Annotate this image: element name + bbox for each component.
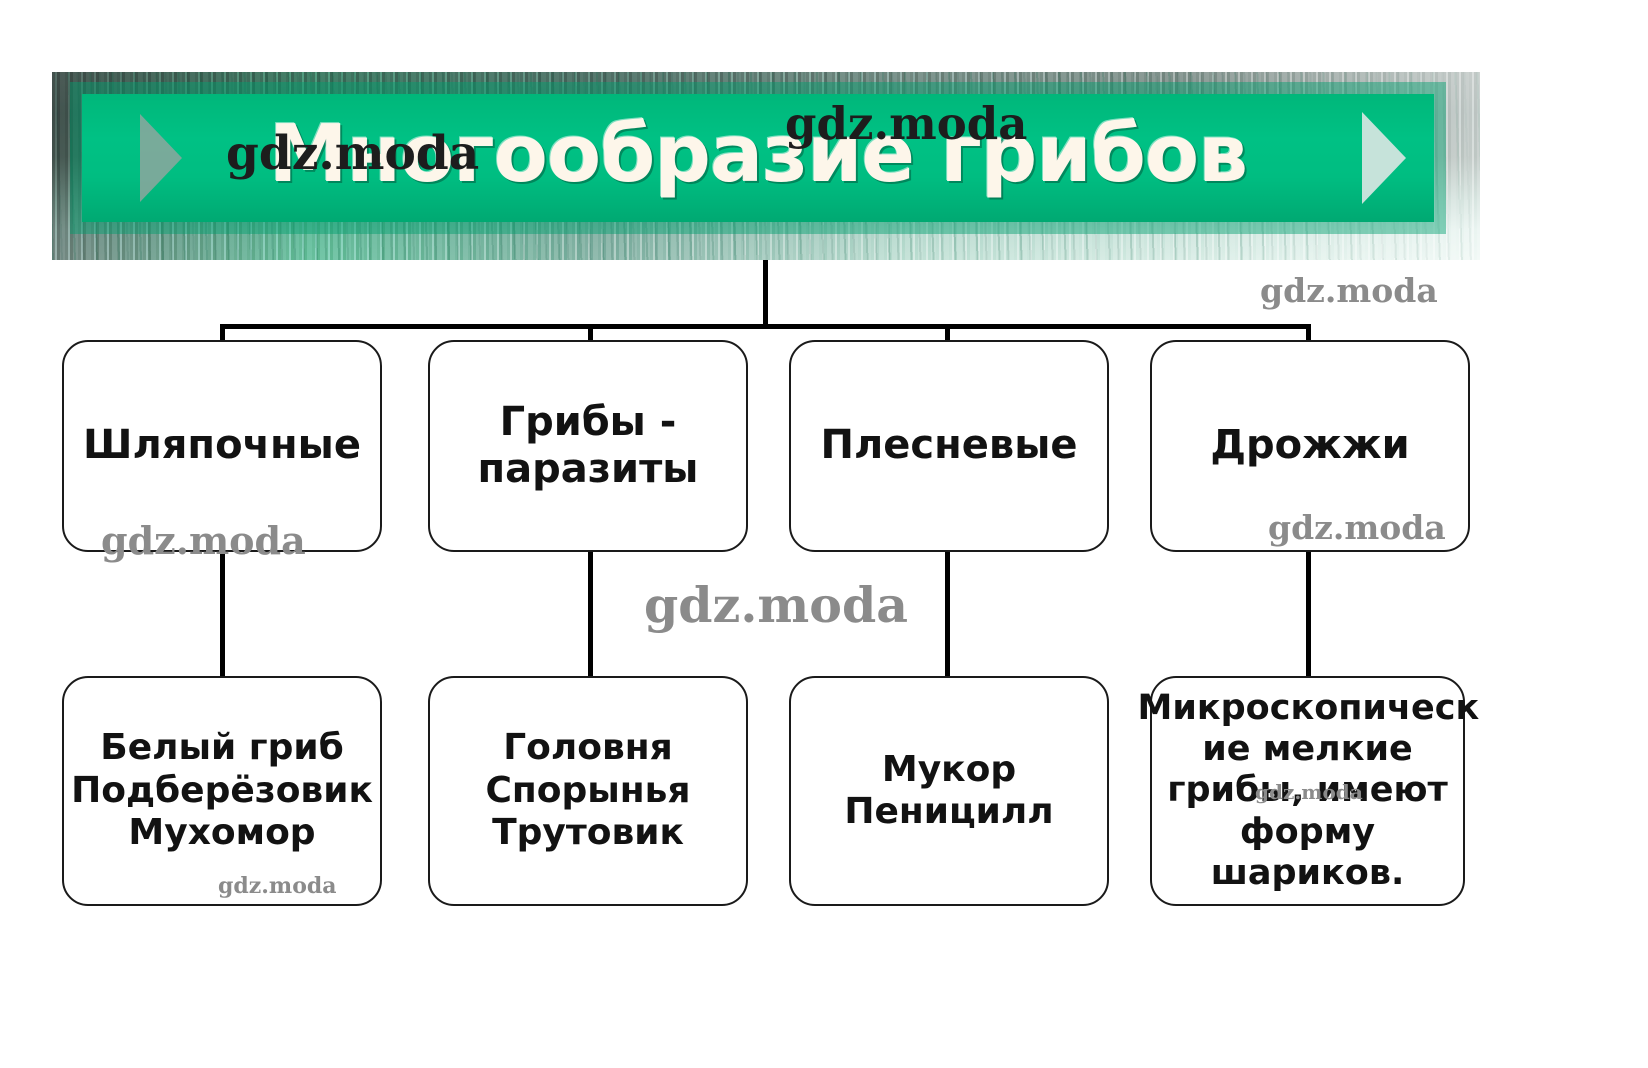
- connector-bus: [222, 324, 1310, 329]
- node-label: Микроскопическ ие мелкие грибы, имеют фо…: [1138, 688, 1478, 894]
- node-label: Шляпочные: [83, 422, 361, 469]
- node-label: Грибы - паразиты: [478, 399, 699, 493]
- connector-link-3: [945, 551, 950, 676]
- node-shlyapochnye-examples[interactable]: Белый гриб Подберёзовик Мухомор: [62, 676, 382, 906]
- node-plesnevye[interactable]: Плесневые: [789, 340, 1109, 552]
- watermark: gdz.moda: [644, 576, 908, 634]
- node-label: Мукор Пеницилл: [844, 749, 1053, 834]
- node-plesnevye-examples[interactable]: Мукор Пеницилл: [789, 676, 1109, 906]
- node-label: Плесневые: [821, 422, 1078, 469]
- node-label: Белый гриб Подберёзовик Мухомор: [71, 727, 373, 854]
- connector-link-1: [220, 551, 225, 676]
- header-banner: Многообразие грибов: [52, 72, 1480, 260]
- node-griby-parazity[interactable]: Грибы - паразиты: [428, 340, 748, 552]
- node-drozhzhi-description[interactable]: Микроскопическ ие мелкие грибы, имеют фо…: [1150, 676, 1465, 906]
- title-plate: Многообразие грибов: [82, 94, 1434, 222]
- node-shlyapochnye[interactable]: Шляпочные: [62, 340, 382, 552]
- watermark: gdz.moda: [1260, 271, 1438, 310]
- node-label: Головня Спорынья Трутовик: [485, 727, 690, 854]
- node-label: Дрожжи: [1210, 422, 1409, 469]
- connector-link-2: [588, 551, 593, 676]
- connector-root-stem: [763, 260, 768, 328]
- node-drozhzhi[interactable]: Дрожжи: [1150, 340, 1470, 552]
- connector-link-4: [1306, 551, 1311, 676]
- node-parazity-examples[interactable]: Головня Спорынья Трутовик: [428, 676, 748, 906]
- page-title: Многообразие грибов: [82, 108, 1434, 200]
